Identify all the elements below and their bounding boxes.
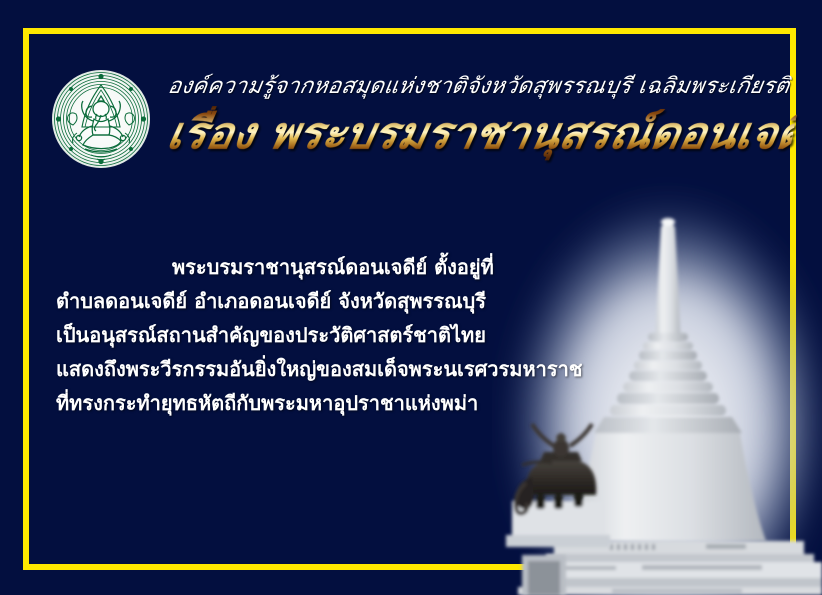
fine-arts-department-ganesha-seal-icon (51, 69, 151, 169)
page-title: เรื่อง พระบรมราชานุสรณ์ดอนเจดีย์ (163, 106, 799, 162)
body-line-3: เป็นอนุสรณ์สถานสำคัญของประวัติศาสตร์ชาติ… (56, 318, 676, 352)
knowledge-source-line: องค์ความรู้จากหอสมุดแห่งชาติจังหวัดสุพรร… (166, 72, 796, 102)
body-text-block: พระบรมราชานุสรณ์ดอนเจดีย์ ตั้งอยู่ที่ ตำ… (56, 250, 676, 420)
body-line-2: ตำบลดอนเจดีย์ อำเภอดอนเจดีย์ จังหวัดสุพร… (56, 284, 676, 318)
body-line-4: แสดงถึงพระวีรกรรมอันยิ่งใหญ่ของสมเด็จพระ… (56, 352, 676, 386)
body-line-5: ที่ทรงกระทำยุทธหัตถีกับพระมหาอุปราชาแห่ง… (56, 386, 676, 420)
poster-canvas: องค์ความรู้จากหอสมุดแห่งชาติจังหวัดสุพรร… (0, 0, 822, 595)
header-block: องค์ความรู้จากหอสมุดแห่งชาติจังหวัดสุพรร… (168, 72, 793, 162)
body-line-1: พระบรมราชานุสรณ์ดอนเจดีย์ ตั้งอยู่ที่ (56, 250, 676, 284)
